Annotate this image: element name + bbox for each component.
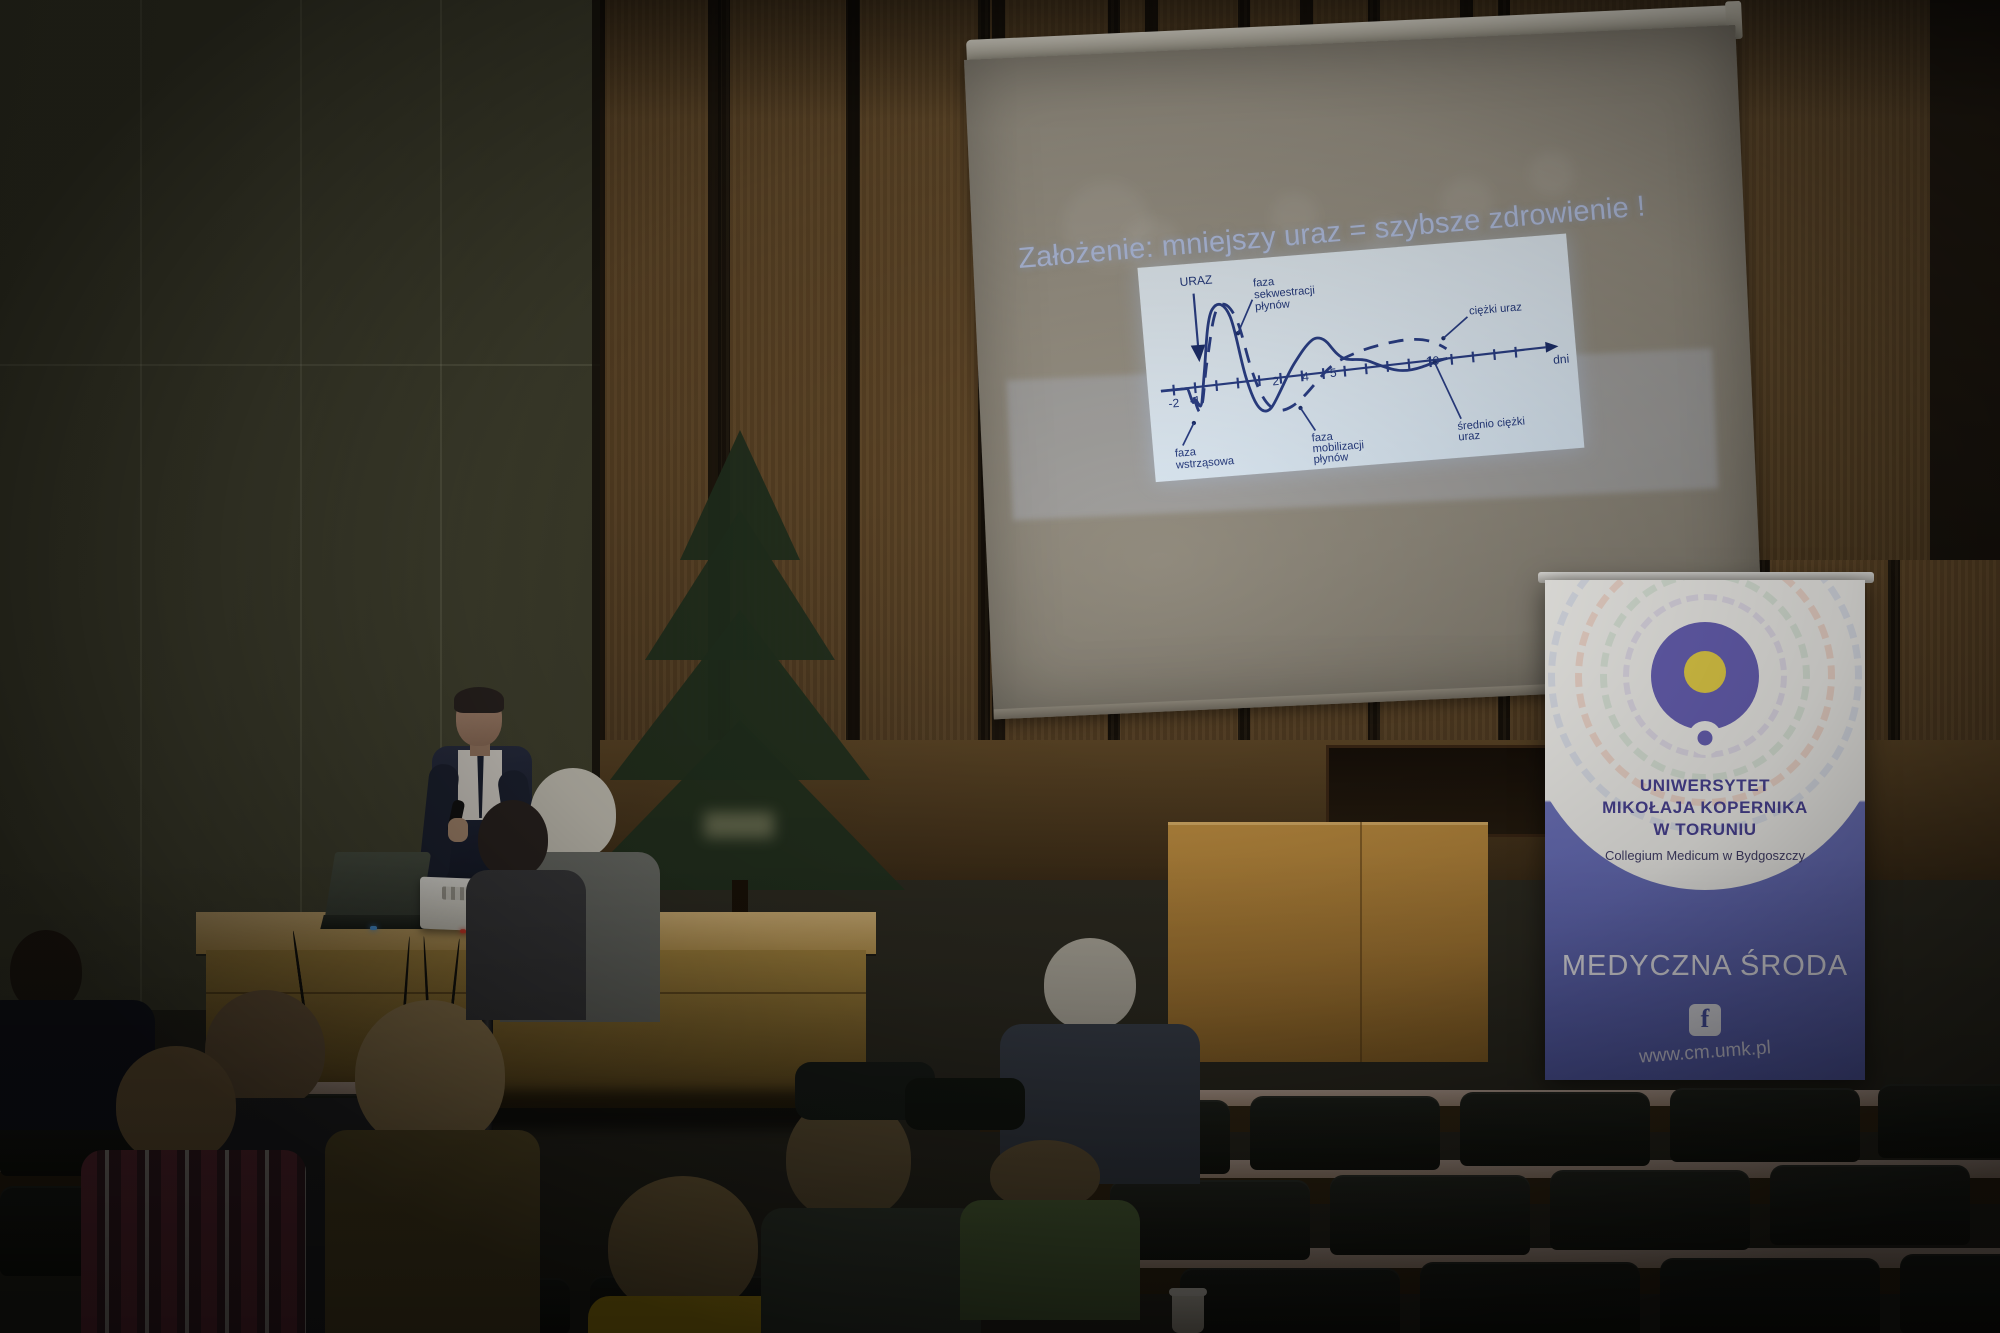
banner-line-2: MIKOŁAJA KOPERNIKA: [1545, 798, 1865, 818]
auditorium-seat[interactable]: [1460, 1092, 1650, 1166]
umk-logo-stem-dot: [1698, 731, 1713, 746]
x-axis-arrowhead: [1545, 341, 1559, 353]
callout-faza-sekwestracji: faza sekwestracji płynów: [1231, 273, 1318, 336]
chart-x-ticks: [1172, 347, 1517, 396]
annotation-faza-sekwestracji-3: płynów: [1255, 298, 1292, 313]
auditorium-seat[interactable]: [1770, 1165, 1970, 1245]
tick-label-4: 4: [1302, 369, 1310, 384]
banner-line-3: W TORUNIU: [1545, 820, 1865, 840]
annotation-faza-mobilizacji-3: płynów: [1313, 451, 1350, 466]
umk-rollup-banner: UNIWERSYTET MIKOŁAJA KOPERNIKA W TORUNIU…: [1545, 580, 1865, 1080]
presenter-hair: [454, 687, 504, 713]
banner-url: www.cm.umk.pl: [1545, 1031, 1865, 1075]
lecture-hall-photo: Założenie: mniejszy uraz = szybsze zdrow…: [0, 0, 2000, 1333]
auditorium-seat[interactable]: [1550, 1170, 1750, 1250]
auditorium-seat[interactable]: [1670, 1088, 1860, 1162]
auditorium-seat[interactable]: [1878, 1084, 2000, 1158]
auditorium-seat[interactable]: [1420, 1262, 1640, 1333]
paper-cup: [1172, 1292, 1204, 1333]
podium: [1168, 822, 1488, 1062]
callout-srednio-ciezki-uraz: średnio ciężki uraz: [1432, 354, 1526, 445]
callout-faza-wstrzasowa: faza wstrząsowa: [1171, 418, 1235, 472]
banner-line-1: UNIWERSYTET: [1545, 776, 1865, 796]
chart-svg: -2 -1 2 4 5 10 dni URAZ: [1137, 233, 1584, 482]
callout-ciezki-uraz: ciężki uraz: [1439, 301, 1525, 340]
callout-faza-mobilizacji: faza mobilizacji płynów: [1298, 401, 1365, 467]
auditorium-seat[interactable]: [1660, 1258, 1880, 1333]
series-ciezki-uraz: [1186, 287, 1450, 418]
christmas-tree: [560, 430, 920, 920]
facebook-icon: f: [1689, 1004, 1721, 1036]
banner-event-title: MEDYCZNA ŚRODA: [1545, 950, 1865, 983]
annotation-ciezki-uraz: ciężki uraz: [1469, 301, 1523, 317]
banner-subtitle: Collegium Medicum w Bydgoszczy: [1545, 848, 1865, 863]
backpack: [905, 1078, 1025, 1130]
annotation-uraz: URAZ: [1179, 272, 1213, 289]
umk-logo-sun: [1684, 651, 1726, 693]
laptop-power-led: [370, 926, 377, 930]
uraz-arrow: [1186, 293, 1206, 363]
annotation-srednio-ciezki-2: uraz: [1458, 430, 1481, 444]
auditorium-seat[interactable]: [1900, 1254, 2000, 1333]
auditorium-seat[interactable]: [1180, 1268, 1400, 1333]
auditorium-seat[interactable]: [1110, 1180, 1310, 1260]
tick-label-minus2: -2: [1168, 396, 1180, 411]
slide-chart: -2 -1 2 4 5 10 dni URAZ: [1137, 233, 1584, 482]
laptop-screen[interactable]: [325, 852, 431, 918]
presenter-left-hand: [448, 818, 468, 842]
x-axis-label: dni: [1553, 352, 1570, 367]
tick-label-2: 2: [1272, 374, 1280, 389]
auditorium-seat[interactable]: [1330, 1175, 1530, 1255]
auditorium-seat[interactable]: [1250, 1096, 1440, 1170]
